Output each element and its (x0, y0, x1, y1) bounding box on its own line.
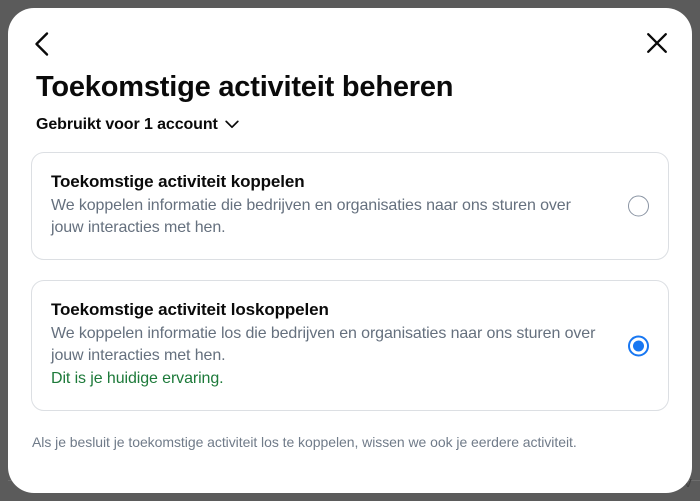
option-card-link-future-activity[interactable]: Toekomstige activiteit koppelen We koppe… (31, 152, 669, 260)
options-list: Toekomstige activiteit koppelen We koppe… (8, 152, 692, 411)
dialog-topbar (8, 8, 692, 70)
footnote-text: Als je besluit je toekomstige activiteit… (8, 433, 692, 451)
option-description: We koppelen informatie die bedrijven en … (51, 195, 596, 239)
radio-link-future-activity[interactable] (628, 196, 649, 217)
option-title: Toekomstige activiteit loskoppelen (51, 299, 596, 320)
option-card-unlink-future-activity[interactable]: Toekomstige activiteit loskoppelen We ko… (31, 280, 669, 411)
chevron-down-icon (225, 116, 239, 134)
close-icon (646, 32, 668, 54)
page-title: Toekomstige activiteit beheren (8, 70, 692, 104)
back-button[interactable] (24, 27, 58, 61)
account-scope-label: Gebruikt voor 1 account (36, 115, 218, 134)
option-title: Toekomstige activiteit koppelen (51, 171, 596, 192)
option-current-experience-note: Dit is je huidige ervaring. (51, 368, 596, 390)
manage-future-activity-dialog: Toekomstige activiteit beheren Gebruikt … (8, 8, 692, 493)
option-description: We koppelen informatie los die bedrijven… (51, 323, 596, 367)
chevron-left-icon (33, 31, 50, 57)
radio-unlink-future-activity[interactable] (628, 335, 649, 356)
account-scope-selector[interactable]: Gebruikt voor 1 account (36, 115, 239, 134)
close-button[interactable] (640, 26, 674, 60)
